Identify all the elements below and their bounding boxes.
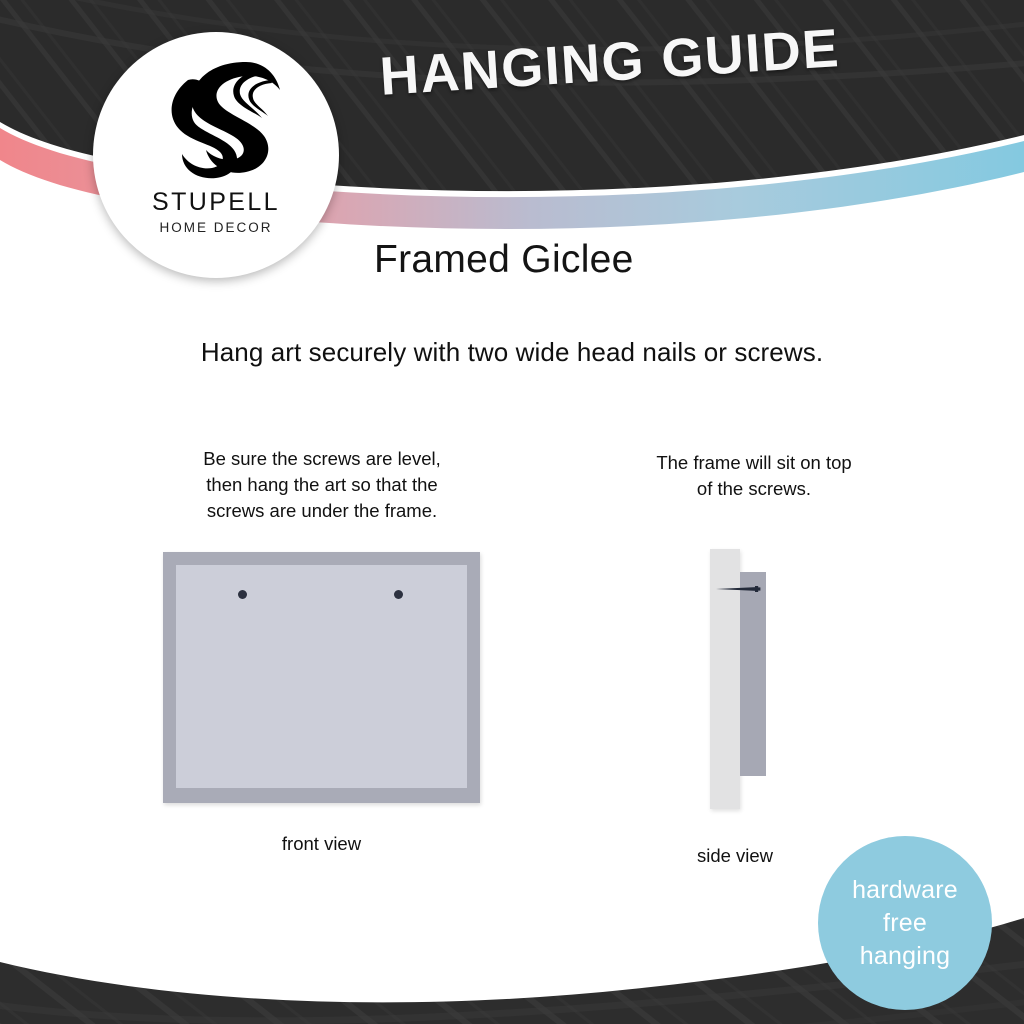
brand-logo-badge: STUPELL HOME DECOR xyxy=(93,32,339,278)
front-instruction-line-1: Be sure the screws are level, xyxy=(152,446,492,472)
lead-instruction: Hang art securely with two wide head nai… xyxy=(0,337,1024,368)
badge-line-1: hardware xyxy=(852,874,958,907)
front-view-frame-diagram xyxy=(163,552,480,803)
brand-tagline: HOME DECOR xyxy=(159,220,272,235)
side-instruction-line-1: The frame will sit on top xyxy=(604,450,904,476)
front-view-caption: front view xyxy=(163,833,480,855)
product-type-label: Framed Giclee xyxy=(374,238,634,282)
side-view-frame-strip xyxy=(740,572,766,776)
hardware-free-hanging-badge: hardware free hanging xyxy=(818,836,992,1010)
screw-dot-right-icon xyxy=(394,590,403,599)
nail-icon xyxy=(716,586,764,592)
side-view-instructions: The frame will sit on top of the screws. xyxy=(604,450,904,502)
front-instruction-line-3: screws are under the frame. xyxy=(152,498,492,524)
brand-name: STUPELL xyxy=(152,188,280,217)
front-view-instructions: Be sure the screws are level, then hang … xyxy=(152,446,492,524)
side-instruction-line-2: of the screws. xyxy=(604,476,904,502)
hanging-guide-page: STUPELL HOME DECOR HANGING GUIDE Framed … xyxy=(0,0,1024,1024)
screw-dot-left-icon xyxy=(238,590,247,599)
frame-artwork-area xyxy=(176,565,467,788)
page-title: HANGING GUIDE xyxy=(378,17,842,108)
side-view-caption: side view xyxy=(655,845,815,867)
stupell-swoosh-logo-icon xyxy=(150,54,282,182)
badge-line-2: free xyxy=(852,907,958,940)
badge-line-3: hanging xyxy=(852,940,958,973)
front-instruction-line-2: then hang the art so that the xyxy=(152,472,492,498)
